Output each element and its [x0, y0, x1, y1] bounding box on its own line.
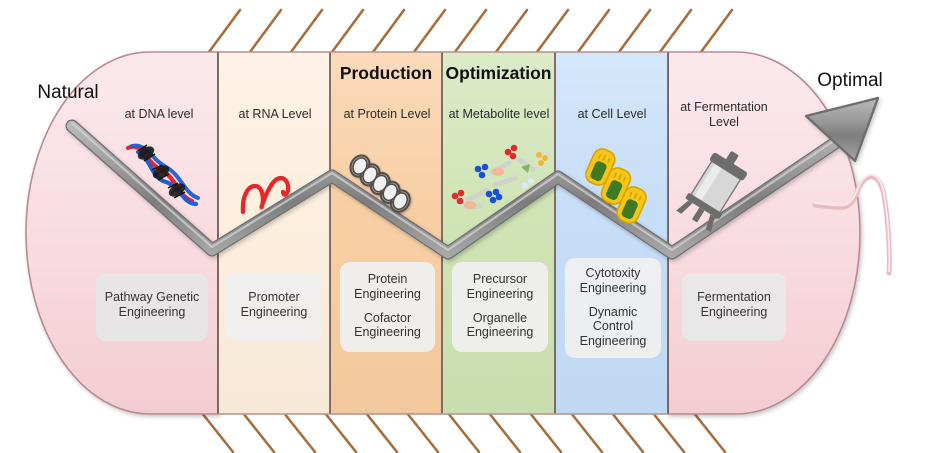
hatch-marks-top	[209, 10, 732, 52]
box-text-pathway-genetic: Pathway Genetic Engineering	[96, 290, 208, 320]
hatch-marks-bottom	[202, 413, 725, 452]
column-sublabel-protein: at Protein Level	[332, 107, 442, 122]
box-line: Precursor	[473, 272, 527, 286]
box-line: Engineering	[119, 305, 186, 319]
box-line: Protein	[368, 272, 408, 286]
box-line: Engineering	[467, 325, 534, 339]
box-line: Promoter	[248, 290, 299, 304]
box-line: Organelle	[473, 311, 527, 325]
box-line: Dynamic	[589, 305, 638, 319]
column-sublabel-cell: at Cell Level	[556, 107, 668, 122]
stage-heading-production: Production	[330, 63, 442, 84]
box-line: Engineering	[580, 334, 647, 348]
box-line: Control	[593, 319, 633, 333]
column-sublabel-metabolite: at Metabolite level	[443, 107, 555, 122]
box-text-metabolite: Precursor Engineering Organelle Engineer…	[452, 272, 548, 340]
box-line: Cytotoxity	[586, 266, 641, 280]
box-line: Engineering	[241, 305, 308, 319]
box-line: Cofactor	[364, 311, 411, 325]
label-natural: Natural	[8, 82, 128, 104]
box-line: Engineering	[354, 287, 421, 301]
column-sublabel-fermentation: at Fermentation Level	[672, 100, 776, 130]
column-sublabel-rna: at RNA Level	[220, 107, 330, 122]
box-text-promoter: Promoter Engineering	[226, 290, 322, 320]
box-line: Engineering	[467, 287, 534, 301]
box-text-protein: Protein Engineering Cofactor Engineering	[340, 272, 435, 340]
box-line: Fermentation	[697, 290, 771, 304]
column-sublabel-dna: at DNA level	[100, 107, 218, 122]
box-text-fermentation: Fermentation Engineering	[682, 290, 786, 320]
pathway-engineering-diagram: Natural Optimal Production Optimization …	[0, 0, 940, 453]
box-text-cell: Cytotoxity Engineering Dynamic Control E…	[565, 266, 661, 349]
box-line: Engineering	[580, 281, 647, 295]
label-optimal: Optimal	[790, 70, 910, 92]
box-line: Engineering	[701, 305, 768, 319]
box-line: Engineering	[354, 325, 421, 339]
box-line: Pathway Genetic	[105, 290, 200, 304]
stage-heading-optimization: Optimization	[441, 63, 556, 84]
